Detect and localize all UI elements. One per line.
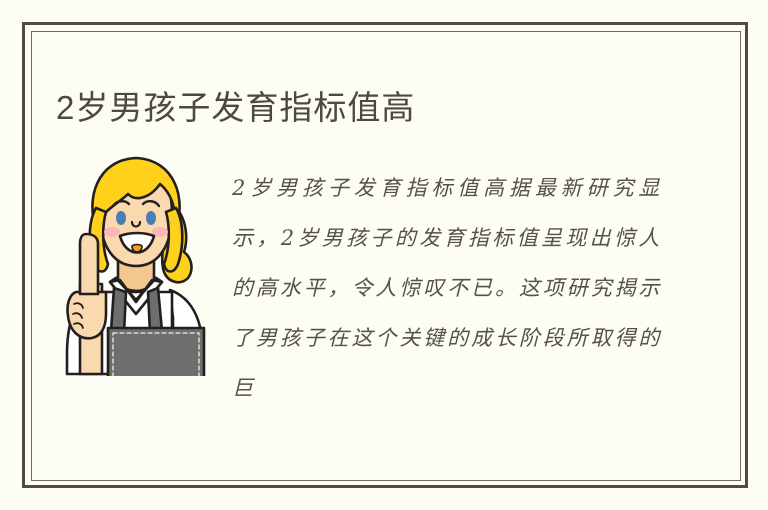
article-body-text: 2岁男孩子发育指标值高据最新研究显示，2岁男孩子的发育指标值呈现出惊人的高水平，… xyxy=(232,163,662,413)
page-title: 2岁男孩子发育指标值高 xyxy=(56,88,415,128)
article-card: 2岁男孩子发育指标值高 xyxy=(0,0,768,510)
woman-pointing-up-icon xyxy=(52,142,220,376)
